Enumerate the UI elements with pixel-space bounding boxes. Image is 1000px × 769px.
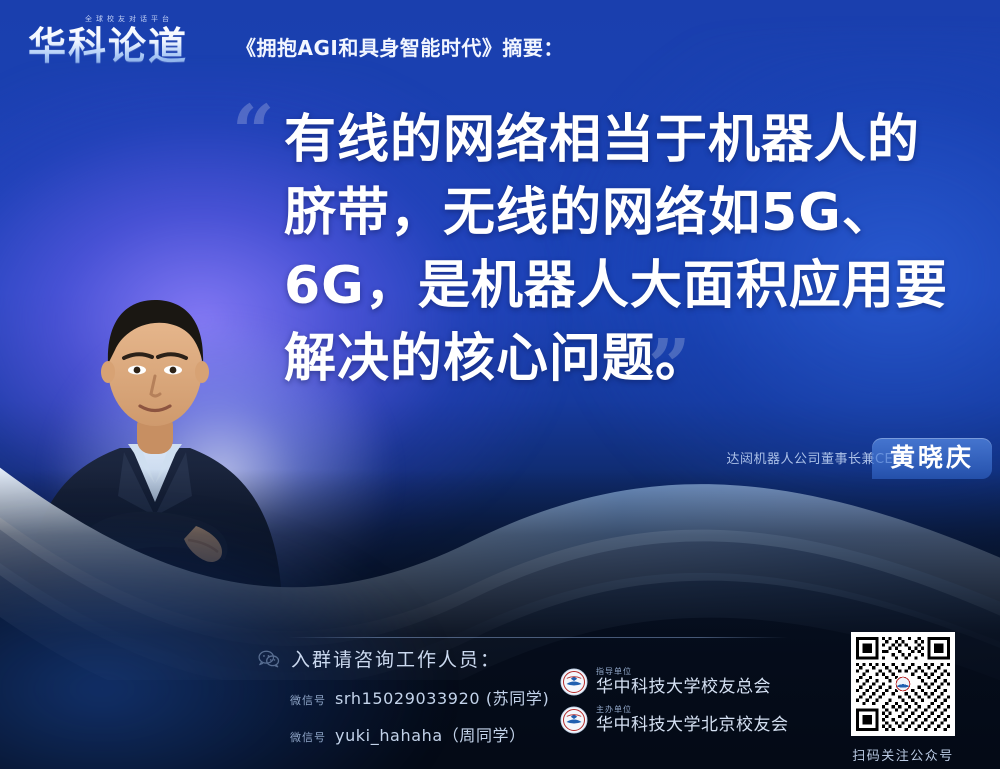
page-title: 《拥抱AGI和具身智能时代》摘要：: [236, 32, 564, 67]
wechat-icon: [258, 650, 280, 668]
logo-wordmark: 华科论道: [28, 25, 220, 67]
university-seal-icon: [560, 706, 588, 734]
brand-logo[interactable]: 全球校友对话平台 华科论道: [28, 14, 220, 67]
speaker-name-badge: 黄晓庆: [872, 438, 992, 479]
qr-caption: 扫码关注公众号: [843, 745, 963, 764]
organizer-row: 主办单位 华中科技大学北京校友会: [560, 706, 789, 734]
organizer-kind: 主办单位: [596, 706, 789, 714]
qr-code[interactable]: [851, 632, 955, 736]
wechat-id[interactable]: srh15029033920 (苏同学): [335, 685, 549, 709]
quote-line: 有线的网络相当于机器人的: [284, 104, 964, 177]
quote-line: 脐带，无线的网络如5G、: [284, 177, 964, 250]
quote-line: 6G，是机器人大面积应用要: [284, 250, 964, 323]
footer-divider: [288, 637, 788, 638]
quote-line: 解决的核心问题。: [284, 323, 964, 396]
organizer-name: 华中科技大学北京校友会: [596, 717, 789, 734]
logo-tagline: 全球校友对话平台: [38, 14, 220, 24]
wechat-id[interactable]: yuki_hahaha（周同学）: [335, 722, 526, 746]
contact-title: 入群请咨询工作人员：: [291, 645, 501, 672]
wechat-label: 微信号: [290, 729, 326, 745]
header: 全球校友对话平台 华科论道 《拥抱AGI和具身智能时代》摘要：: [28, 14, 564, 67]
university-seal-icon: [560, 668, 588, 696]
organizer-kind: 指导单位: [596, 668, 771, 676]
qr-block: 扫码关注公众号: [843, 632, 963, 764]
quote-text: 有线的网络相当于机器人的 脐带，无线的网络如5G、 6G，是机器人大面积应用要 …: [284, 104, 964, 396]
poster-canvas: 全球校友对话平台 华科论道 《拥抱AGI和具身智能时代》摘要： “ 有线的网络相…: [0, 0, 1000, 769]
organizer-name: 华中科技大学校友总会: [596, 679, 771, 696]
wechat-label: 微信号: [290, 692, 326, 708]
organizer-list: 指导单位 华中科技大学校友总会 主办单位 华中科技大学北京校友会: [560, 668, 789, 744]
organizer-row: 指导单位 华中科技大学校友总会: [560, 668, 789, 696]
attribution: 达闼机器人公司董事长兼CEO 黄晓庆: [726, 448, 904, 467]
